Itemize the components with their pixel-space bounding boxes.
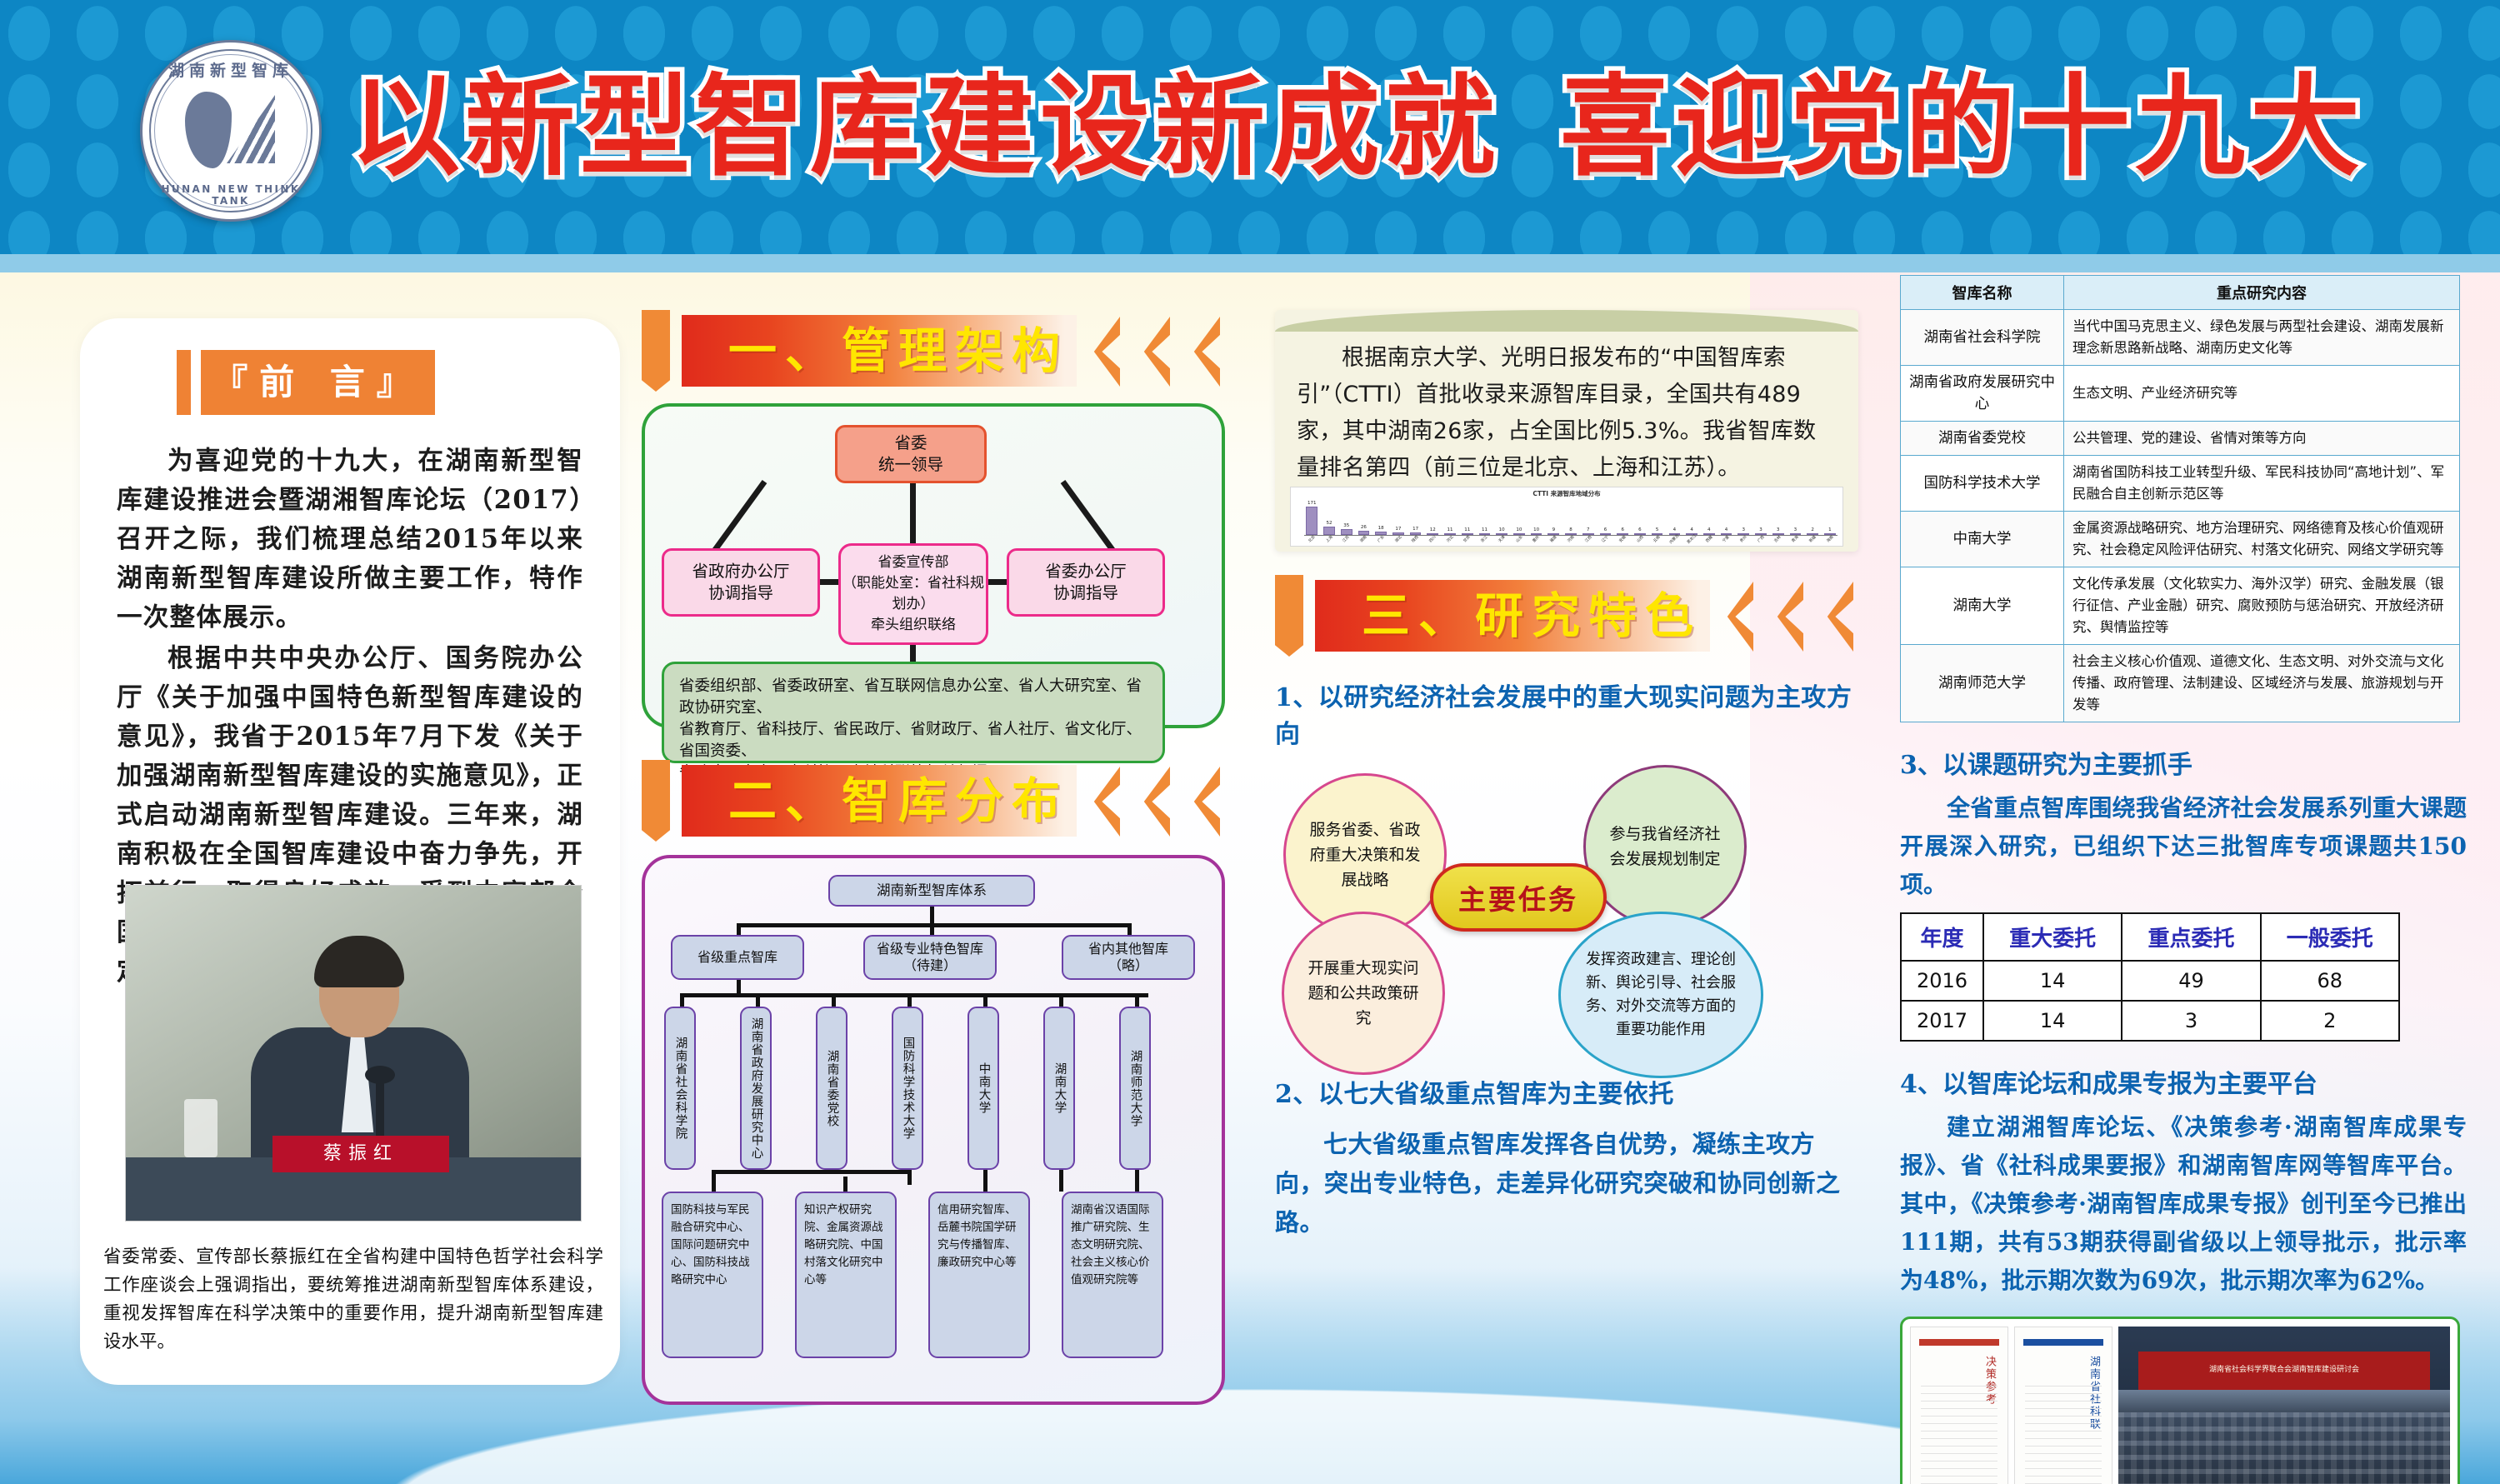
section-1-band: 一、管理架构 (682, 315, 1077, 387)
tree-institution-7: 湖南师范大学 (1119, 1007, 1151, 1170)
chevron-left-icon-9 (1820, 582, 1853, 652)
chevron-left-icon-7 (1720, 582, 1753, 652)
tree-connector-leaf-h1 (712, 1170, 912, 1174)
chart-bar-value: 11 (1482, 527, 1487, 532)
photo-water-glass (184, 1099, 217, 1157)
chart-bar-value: 35 (1343, 523, 1349, 528)
section-1-title: 一、管理架构 (728, 315, 1068, 387)
header-bottom-strip (0, 254, 2500, 272)
gallery-doc1-header-bar (1919, 1339, 1999, 1346)
chart-bar: 7 (1581, 499, 1597, 535)
year-header-general: 一般委托 (2261, 913, 2399, 961)
preface-tag: 『前 言』 (177, 350, 435, 415)
chart-bar: 6 (1597, 499, 1613, 535)
chart-bar: 11 (1459, 499, 1475, 535)
org-node-party-committee-office: 省委办公厅 协调指导 (1007, 548, 1165, 617)
chart-bar-value: 4 (1707, 527, 1711, 532)
tree-institution-4: 国防科学技术大学 (892, 1007, 923, 1170)
chart-bar: 4 (1702, 499, 1717, 535)
tree-connector-inst-h (680, 993, 1148, 997)
chevron-left-icon-3 (1187, 317, 1220, 387)
chart-bar-value: 4 (1690, 527, 1693, 532)
photo-caption: 省委常委、宣传部长蔡振红在全省构建中国特色哲学社会科学工作座谈会上强调指出，要统… (103, 1243, 603, 1357)
province-map-shape (185, 92, 232, 168)
table-cell-name: 国防科学技术大学 (1901, 456, 2064, 512)
gallery-doc1-text-lines (1921, 1386, 1997, 1484)
chart-bar: 9 (1546, 499, 1562, 535)
section-1-left-bar (642, 310, 670, 392)
section-3-band: 三、研究特色 (1315, 580, 1710, 652)
chevron-left-icon-8 (1770, 582, 1803, 652)
table-row: 湖南省委党校公共管理、党的建设、省情对策等方向 (1901, 422, 2460, 456)
year-cell-count: 3 (2122, 1001, 2260, 1041)
year-cell-year: 2017 (1901, 1001, 1983, 1041)
year-table-row: 20171432 (1901, 1001, 2399, 1041)
org-node-top-line2: 统一领导 (878, 454, 943, 476)
task-center-label: 主要任务 (1430, 863, 1607, 932)
chart-bar: 52 (1322, 499, 1337, 535)
section-2-band: 二、智库分布 (682, 765, 1077, 837)
tree-leaf-4: 湖南省汉语国际推广研究院、生态文明研究院、社会主义核心价值观研究院等 (1062, 1192, 1163, 1358)
page-title: 以新型智库建设新成就喜迎党的十九大 (350, 57, 2433, 198)
chart-bar: 17 (1407, 499, 1423, 535)
chart-bar: 18 (1373, 499, 1389, 535)
task-circle-bottom-left: 开展重大现实问题和公共政策研究 (1282, 912, 1445, 1075)
project-year-table: 年度 重大委托 重点委托 一般委托 201614496820171432 (1900, 912, 2400, 1042)
org-connector-horizontal-left (820, 579, 840, 585)
preface-tag-bar (177, 350, 191, 415)
org-node-left-line1: 省政府办公厅 (692, 561, 789, 582)
table-cell-name: 湖南大学 (1901, 567, 2064, 645)
book-fan-shape (227, 95, 275, 163)
tree-connector-root-v (930, 907, 934, 925)
section-3-item-2-body: 七大省级重点智库发挥各自优势，凝练主攻方向，突出专业特色，走差异化研究突破和协同… (1275, 1125, 1858, 1242)
section-3-item-4-paragraph: 建立湖湘智库论坛、《决策参考·湖南智库成果专报》、省《社科成果要报》和湖南智库网… (1900, 1108, 2467, 1300)
section-2-left-bar (642, 760, 670, 842)
section-3-item-2-heading: 2、以七大省级重点智库为主要依托 (1275, 1073, 1858, 1110)
section-2-title: 二、智库分布 (728, 765, 1068, 837)
tree-leaf-2: 知识产权研究院、金属资源战略研究院、中国村落文化研究中心等 (795, 1192, 897, 1358)
table-cell-content: 金属资源战略研究、地方治理研究、网络德育及核心价值观研究、社会稳定风险评估研究、… (2064, 512, 2460, 567)
chart-bar-value: 4 (1673, 527, 1677, 532)
org-node-top-line1: 省委 (894, 432, 927, 454)
org-connector-vertical-bottom (910, 645, 916, 663)
logo-chinese-name: 湖南新型智库 (140, 58, 322, 81)
right-column: 智库名称 重点研究内容 湖南省社会科学院当代中国马克思主义、绿色发展与两型社会建… (1900, 275, 2467, 1484)
logo-english-name: HUNAN NEW THINK TANK (140, 183, 322, 207)
section-3-item-4-heading: 4、以智库论坛和成果专报为主要平台 (1900, 1063, 2467, 1100)
chart-bar-value: 10 (1516, 527, 1522, 532)
section-3-title: 三、研究特色 (1362, 580, 1702, 652)
chevron-left-icon-2 (1137, 317, 1170, 387)
year-table-row: 2016144968 (1901, 961, 2399, 1001)
year-header-key: 重点委托 (2122, 913, 2260, 961)
chart-bar: 2 (1805, 499, 1821, 535)
tree-leaf-1: 国防科技与军民融合研究中心、国际问题研究中心、国防科技战略研究中心 (662, 1192, 763, 1358)
chart-bar: 4 (1718, 499, 1734, 535)
chart-bar-value: 3 (1794, 527, 1797, 532)
chart-bar: 10 (1512, 499, 1527, 535)
chart-bar-value: 10 (1499, 527, 1505, 532)
chart-bar: 6 (1615, 499, 1631, 535)
chart-x-axis-labels: 北京上海江苏湖南广东湖北陕西四川河北甘肃浙江天津山东重庆福建河南江西辽宁安徽山西… (1304, 537, 1837, 542)
chart-bar: 3 (1736, 499, 1752, 535)
year-cell-count: 68 (2261, 961, 2399, 1001)
section-3-item-3-body: 全省重点智库围绕我省经济社会发展系列重大课题开展深入研究，已组织下达三批智库专项… (1900, 789, 2467, 904)
preface-tag-label: 『前 言』 (201, 350, 435, 415)
table-cell-content: 生态文明、产业经济研究等 (2064, 366, 2460, 422)
section-1-header: 一、管理架构 (642, 310, 1225, 392)
chart-bar-value: 4 (1725, 527, 1728, 532)
table-row: 国防科学技术大学湖南省国防科技工业转型升级、军民科技协同“高地计划”、军民融合自… (1901, 456, 2460, 512)
table-cell-name: 湖南省社会科学院 (1901, 310, 2064, 366)
chart-bar: 11 (1442, 499, 1458, 535)
year-table-body: 201614496820171432 (1901, 961, 2399, 1041)
year-cell-count: 14 (1983, 961, 2122, 1001)
page-title-part2: 喜迎党的十九大 (1560, 63, 2365, 192)
org-connector-vertical-top (910, 483, 916, 543)
chart-bar: 4 (1667, 499, 1682, 535)
org-node-left-line2: 协调指导 (708, 582, 773, 604)
chart-bar: 6 (1632, 499, 1648, 535)
tree-institution-1: 湖南省社会科学院 (664, 1007, 696, 1170)
chart-bar-value: 7 (1587, 527, 1590, 532)
org-node-government-office: 省政府办公厅 协调指导 (662, 548, 820, 617)
gallery-doc2-text-lines (2025, 1386, 2102, 1484)
chart-bar: 26 (1356, 499, 1372, 535)
gallery-photo-stage (2118, 1390, 2450, 1412)
section-3-left-bar (1275, 575, 1303, 657)
table-row: 湖南省政府发展研究中心生态文明、产业经济研究等 (1901, 366, 2460, 422)
chart-bar: 35 (1338, 499, 1354, 535)
chart-plot-area: 1715235261817171211111110101098766654444… (1304, 499, 1837, 536)
org-node-provincial-committee: 省委 统一领导 (835, 425, 987, 483)
chevron-left-icon-4 (1087, 767, 1120, 837)
chart-bar: 4 (1684, 499, 1700, 535)
org-node-right-line1: 省委办公厅 (1045, 561, 1127, 582)
table-row: 湖南师范大学社会主义核心价值观、道德文化、生态文明、对外交流与文化传播、政府管理… (1901, 645, 2460, 722)
section-3-item-4-body: 建立湖湘智库论坛、《决策参考·湖南智库成果专报》、省《社科成果要报》和湖南智库网… (1900, 1108, 2467, 1300)
tree-connector-leaf-v5 (1059, 1170, 1063, 1192)
poster-root: 湖南新型智库 HUNAN NEW THINK TANK 以新型智库建设新成就喜迎… (0, 0, 2500, 1484)
org-member-line1: 省委组织部、省委政研室、省互联网信息办公室、省人大研究室、省政协研究室、 (679, 676, 1147, 719)
tree-node-other-think-tanks: 省内其他智库 （略） (1062, 935, 1195, 980)
chart-bar-value: 11 (1447, 527, 1453, 532)
chart-bar-value: 3 (1777, 527, 1780, 532)
chevron-left-icon-6 (1187, 767, 1220, 837)
ctti-info-box: 根据南京大学、光明日报发布的“中国智库索引”（CTTI）首批收录来源智库目录，全… (1275, 310, 1858, 552)
chart-bar-value: 18 (1378, 526, 1384, 531)
think-tank-distribution-tree: 湖南新型智库体系 省级重点智库 省级专业特色智库 （待建） 省内其他智库 （略）… (642, 855, 1225, 1405)
gallery-document-1: 决策参考 (1910, 1327, 2008, 1484)
table-cell-name: 中南大学 (1901, 512, 2064, 567)
table-header-name: 智库名称 (1901, 276, 2064, 310)
chart-bar: 8 (1563, 499, 1579, 535)
year-cell-year: 2016 (1901, 961, 1983, 1001)
gallery-photo-banner: 湖南省社会科学界联合会湖南智库建设研讨会 (2138, 1352, 2430, 1391)
main-tasks-diagram: 服务省委、省政府重大决策和发展战略 参与我省经济社会发展规划制定 开展重大现实问… (1275, 765, 1858, 1057)
chart-bar-value: 17 (1395, 527, 1401, 532)
tree-connector-leaf-v1 (712, 1170, 716, 1192)
tree-connector-l2-h (737, 923, 1132, 927)
gallery-conference-photo: 湖南省社会科学界联合会湖南智库建设研讨会 (2118, 1327, 2450, 1484)
chart-bar: 171 (1304, 499, 1320, 535)
table-row: 湖南大学文化传承发展（文化软实力、海外汉学）研究、金融发展（银行征信、产业金融）… (1901, 567, 2460, 645)
gallery-document-2: 湖南省社科联 (2014, 1327, 2112, 1484)
section-3-item-3-paragraph: 全省重点智库围绕我省经济社会发展系列重大课题开展深入研究，已组织下达三批智库专项… (1900, 789, 2467, 904)
org-node-propaganda-dept: 省委宣传部 （职能处室：省社科规划办） 牵头组织联络 (838, 543, 988, 645)
chart-bar-value: 26 (1361, 525, 1367, 530)
chart-bar: 3 (1770, 499, 1786, 535)
org-node-member-units: 省委组织部、省委政研室、省互联网信息办公室、省人大研究室、省政协研究室、 省教育… (662, 662, 1165, 763)
chart-bar-value: 9 (1552, 527, 1556, 532)
chart-bar: 12 (1425, 499, 1441, 535)
tree-institution-2: 湖南省政府发展研究中心 (740, 1007, 772, 1170)
tree-leaf-3: 信用研究智库、岳麓书院国学研究与传播智库、廉政研究中心等 (928, 1192, 1030, 1358)
middle-column: 一、管理架构 省委 统一领导 省政府办公厅 协调指导 省委宣传部 （职 (642, 310, 1225, 1405)
year-cell-count: 2 (2261, 1001, 2399, 1041)
year-header-year: 年度 (1901, 913, 1983, 961)
chart-bar-value: 2 (1811, 527, 1814, 532)
year-cell-count: 14 (1983, 1001, 2122, 1041)
tree-node-key-think-tanks: 省级重点智库 (671, 935, 804, 980)
middle-right-column: 根据南京大学、光明日报发布的“中国智库索引”（CTTI）首批收录来源智库目录，全… (1275, 310, 1858, 1242)
ctti-distribution-chart: CTTI 来源智库地域分布 17152352618171712111111101… (1290, 487, 1843, 547)
section-3-header: 三、研究特色 (1275, 575, 1858, 657)
tree-connector-leaf-v2 (843, 1177, 847, 1192)
chart-bar-value: 8 (1569, 527, 1572, 532)
chart-bar: 1 (1822, 499, 1838, 535)
table-cell-content: 文化传承发展（文化软实力、海外汉学）研究、金融发展（银行征信、产业金融）研究、腐… (2064, 567, 2460, 645)
chart-bar: 10 (1528, 499, 1544, 535)
tree-connector-leaf-v3 (983, 1170, 987, 1192)
chart-bar-value: 17 (1412, 527, 1418, 532)
ctti-text: 根据南京大学、光明日报发布的“中国智库索引”（CTTI）首批收录来源智库目录，全… (1297, 340, 1837, 487)
table-cell-name: 湖南省委党校 (1901, 422, 2064, 456)
task-circle-top-right: 参与我省经济社会发展规划制定 (1583, 765, 1747, 928)
chart-bar-value: 52 (1326, 521, 1332, 526)
chart-bar: 3 (1753, 499, 1769, 535)
table-cell-name: 湖南省政府发展研究中心 (1901, 366, 2064, 422)
chart-bar-value: 1 (1828, 527, 1832, 532)
gallery-photo-audience (2118, 1412, 2450, 1484)
chart-bar-value: 171 (1307, 501, 1317, 506)
chart-bar: 11 (1477, 499, 1492, 535)
preface-paragraph-1: 为喜迎党的十九大，在湖南新型智库建设推进会暨湖湘智库论坛（2017）召开之际，我… (117, 442, 583, 637)
org-node-center-line1: 省委宣传部 (878, 552, 949, 573)
year-header-major: 重大委托 (1983, 913, 2122, 961)
tree-node-specialty-think-tanks: 省级专业特色智库 （待建） (863, 935, 997, 980)
table-cell-content: 社会主义核心价值观、道德文化、生态文明、对外交流与文化传播、政府管理、法制建设、… (2064, 645, 2460, 722)
chart-bar: 5 (1649, 499, 1665, 535)
year-table-header-row: 年度 重大委托 重点委托 一般委托 (1901, 913, 2399, 961)
org-connector-horizontal-right (987, 579, 1008, 585)
tree-institution-5: 中南大学 (967, 1007, 999, 1170)
chart-bar: 17 (1391, 499, 1407, 535)
chart-bar-value: 12 (1430, 527, 1436, 532)
management-structure-diagram: 省委 统一领导 省政府办公厅 协调指导 省委宣传部 （职能处室：省社科规划办） … (642, 403, 1225, 728)
org-member-line2: 省教育厅、省科技厅、省民政厅、省财政厅、省人社厅、省文化厅、省国资委、 (679, 719, 1147, 762)
org-node-right-line2: 协调指导 (1053, 582, 1118, 604)
chart-bar-value: 6 (1638, 527, 1642, 532)
table-row: 中南大学金属资源战略研究、地方治理研究、网络德育及核心价值观研究、社会稳定风险评… (1901, 512, 2460, 567)
section-3-item-3-heading: 3、以课题研究为主要抓手 (1900, 744, 2467, 781)
leader-photo: 蔡振红 (125, 885, 582, 1222)
table-cell-name: 湖南师范大学 (1901, 645, 2064, 722)
section-2-header: 二、智库分布 (642, 760, 1225, 842)
tree-institution-3: 湖南省委党校 (816, 1007, 847, 1170)
ctti-paragraph: 根据南京大学、光明日报发布的“中国智库索引”（CTTI）首批收录来源智库目录，全… (1297, 340, 1837, 487)
chart-bar: 10 (1494, 499, 1510, 535)
table-row: 湖南省社会科学院当代中国马克思主义、绿色发展与两型社会建设、湖南发展新理念新思路… (1901, 310, 2460, 366)
tree-institution-6: 湖南大学 (1043, 1007, 1075, 1170)
chevron-left-icon-5 (1137, 767, 1170, 837)
logo-emblem-icon (185, 88, 275, 172)
section-3-item-1-heading: 1、以研究经济社会发展中的重大现实问题为主攻方向 (1275, 677, 1858, 750)
gallery-doc2-header-bar (2023, 1339, 2103, 1346)
photo-nameplate: 蔡振红 (272, 1136, 449, 1172)
chart-bar-rect (1306, 507, 1317, 535)
chart-bar: 3 (1787, 499, 1803, 535)
table-cell-content: 公共管理、党的建设、省情对策等方向 (2064, 422, 2460, 456)
table-header-content: 重点研究内容 (2064, 276, 2460, 310)
org-node-center-line2: （职能处室：省社科规划办） (841, 573, 986, 615)
org-node-center-line3: 牵头组织联络 (871, 615, 956, 636)
chart-bar-value: 6 (1604, 527, 1607, 532)
chart-bar-value: 6 (1621, 527, 1624, 532)
publications-gallery: 决策参考 湖南省社科联 湖南省社会科学界联合会湖南智库建设研讨会 (1900, 1317, 2460, 1484)
tree-root-node: 湖南新型智库体系 (828, 875, 1035, 907)
chart-bar-value: 3 (1759, 527, 1762, 532)
think-tank-research-table: 智库名称 重点研究内容 湖南省社会科学院当代中国马克思主义、绿色发展与两型社会建… (1900, 275, 2460, 722)
chart-bar-value: 3 (1742, 527, 1745, 532)
table-cell-content: 湖南省国防科技工业转型升级、军民科技协同“高地计划”、军民融合自主创新示范区等 (2064, 456, 2460, 512)
page-title-part1: 以新型智库建设新成就 (350, 63, 1500, 192)
year-cell-count: 49 (2122, 961, 2260, 1001)
chart-bar-value: 5 (1656, 527, 1659, 532)
chart-title: CTTI 来源智库地域分布 (1291, 487, 1842, 498)
tree-connector-leaf-v6 (1135, 1170, 1139, 1192)
chevron-left-icon-1 (1087, 317, 1120, 387)
task-circle-bottom-right: 发挥资政建言、理论创新、舆论引导、社会服务、对外交流等方面的重要功能作用 (1558, 912, 1763, 1078)
table-body: 湖南省社会科学院当代中国马克思主义、绿色发展与两型社会建设、湖南发展新理念新思路… (1901, 310, 2460, 722)
table-cell-content: 当代中国马克思主义、绿色发展与两型社会建设、湖南发展新理念新思路新战略、湖南历史… (2064, 310, 2460, 366)
organization-logo: 湖南新型智库 HUNAN NEW THINK TANK (140, 40, 322, 222)
table-header-row: 智库名称 重点研究内容 (1901, 276, 2460, 310)
